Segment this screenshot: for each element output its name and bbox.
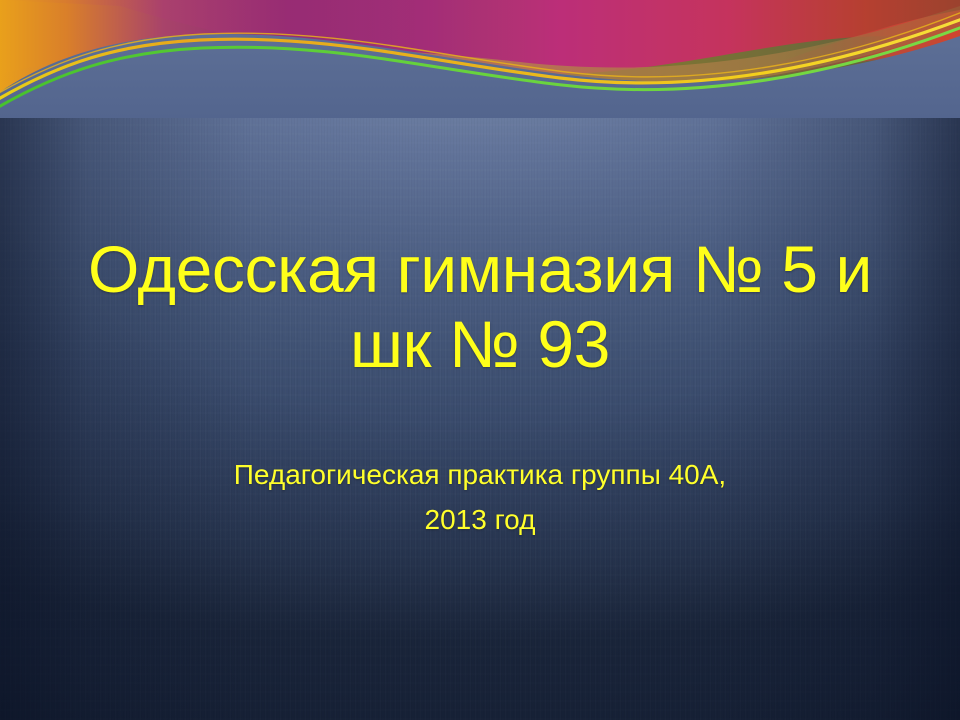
slide-subtitle: Педагогическая практика группы 40А, 2013… bbox=[70, 452, 890, 543]
wave-ribbon-decoration bbox=[0, 0, 960, 118]
slide-canvas: Одесская гимназия № 5 и шк № 93 Педагоги… bbox=[0, 0, 960, 720]
slide-title: Одесская гимназия № 5 и шк № 93 bbox=[48, 232, 912, 382]
